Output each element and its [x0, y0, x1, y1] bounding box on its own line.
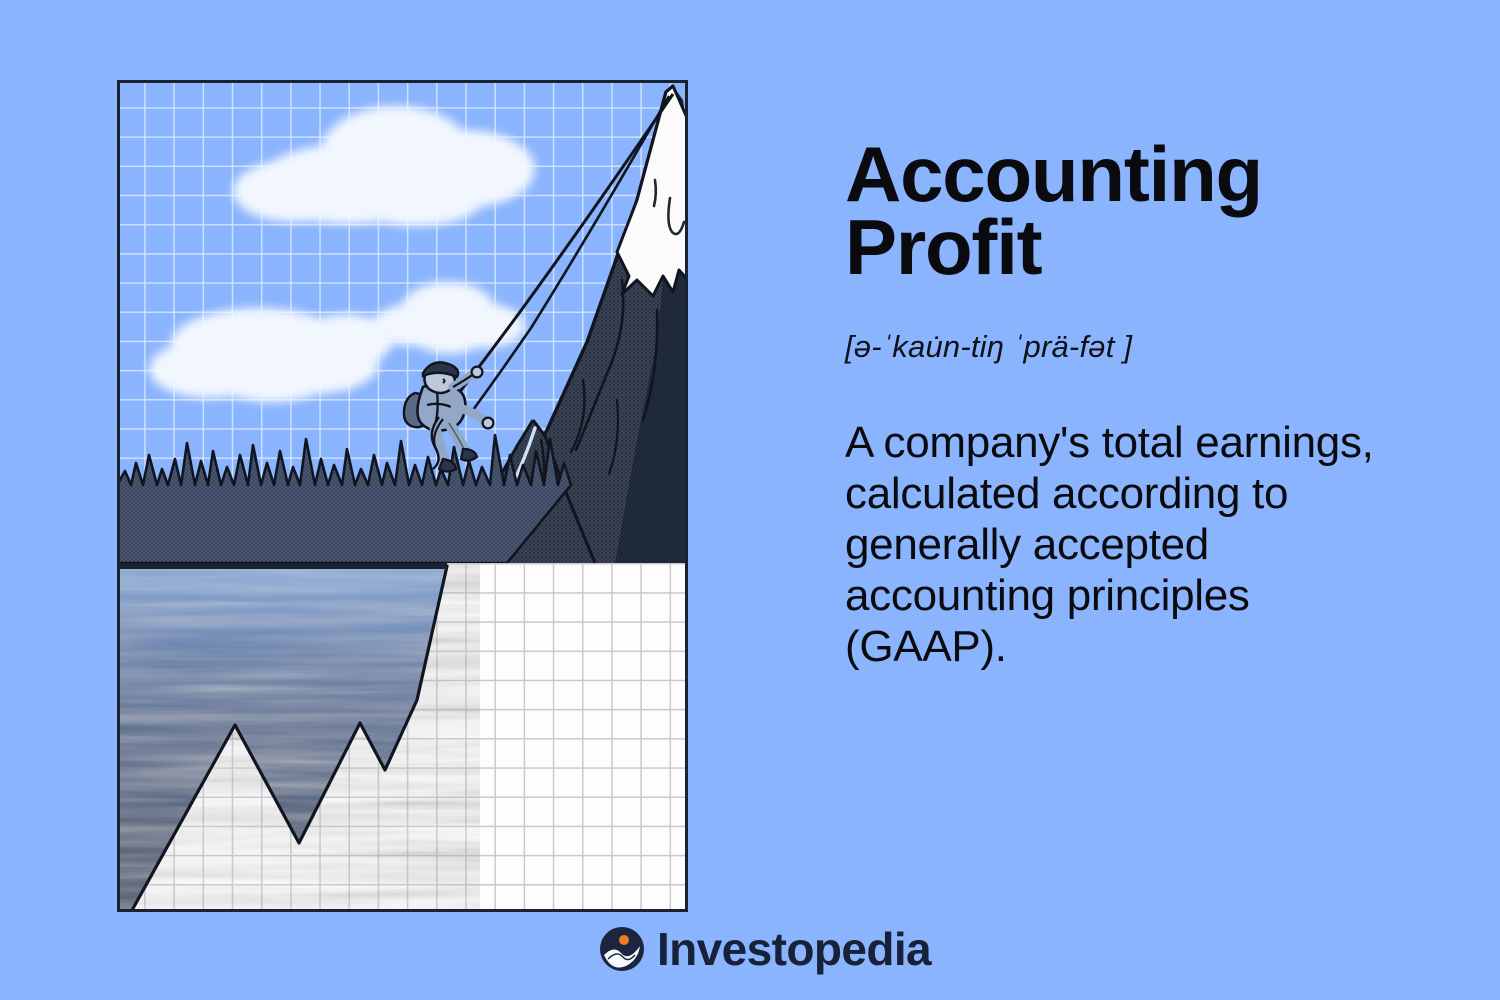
lower-chart-mountains — [117, 563, 688, 912]
phonetic-pronunciation: [ə-ˈkau̇n-tiŋ ˈprä-fət ] — [845, 329, 1405, 365]
title-line-2: Profit — [845, 203, 1041, 291]
mountain-climber-illustration — [117, 80, 688, 912]
illustration-artwork — [117, 80, 688, 912]
definition-card: Accounting Profit [ə-ˈkau̇n-tiŋ ˈprä-fət… — [845, 138, 1405, 672]
lake-band — [117, 563, 447, 569]
investopedia-logo[interactable]: Investopedia — [598, 925, 931, 973]
investopedia-logo-icon — [598, 925, 646, 973]
investopedia-wordmark: Investopedia — [657, 926, 931, 972]
upper-mountain-scene — [117, 86, 688, 563]
climber-figure — [404, 362, 493, 471]
page-title: Accounting Profit — [845, 138, 1405, 285]
definition-text: A company's total earnings, calculated a… — [845, 417, 1385, 672]
